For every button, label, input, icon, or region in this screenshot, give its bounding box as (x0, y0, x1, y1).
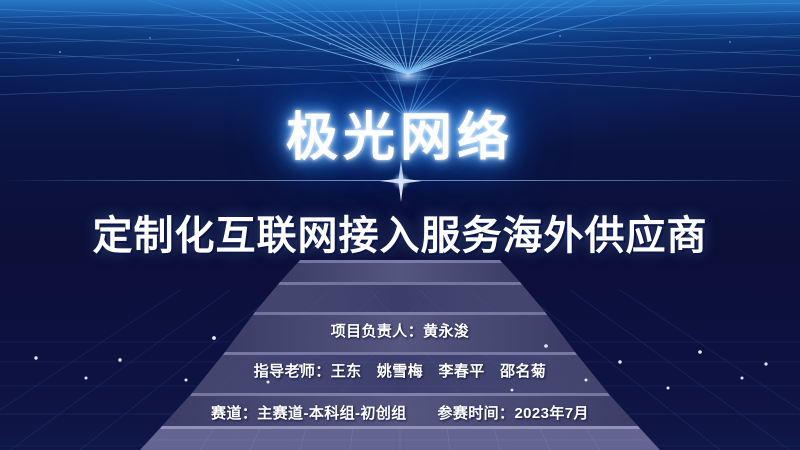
project-leader-line: 项目负责人：黄永浚 (0, 320, 800, 341)
advisors-line: 指导老师：王东 姚雪梅 李春平 邵名菊 (0, 360, 800, 381)
top-light-band (0, 0, 800, 46)
page-title: 极光网络 (0, 95, 800, 170)
track-and-date-line: 赛道：主赛道-本科组-初创组 参赛时间：2023年7月 (0, 402, 800, 423)
horizontal-divider (0, 180, 800, 181)
page-subtitle: 定制化互联网接入服务海外供应商 (0, 203, 800, 261)
presentation-title-slide: 极光网络 定制化互联网接入服务海外供应商 项目负责人：黄永浚 指导老师：王东 姚… (0, 0, 800, 450)
